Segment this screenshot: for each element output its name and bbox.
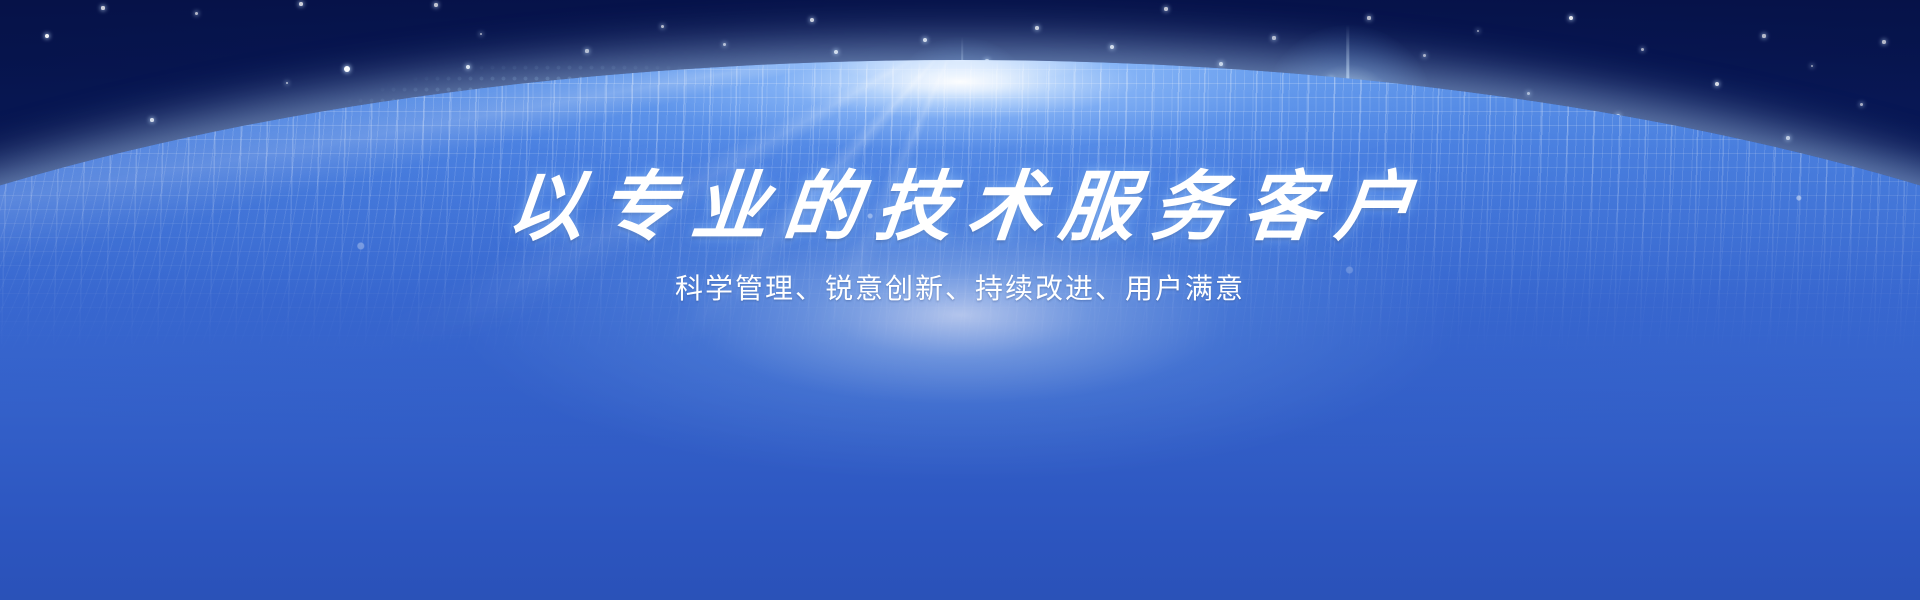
banner-copy: 以专业的技术服务客户 科学管理、锐意创新、持续改进、用户满意	[0, 168, 1920, 305]
earth-globe	[0, 60, 1920, 600]
banner-subheadline: 科学管理、锐意创新、持续改进、用户满意	[0, 272, 1920, 306]
banner-headline: 以专业的技术服务客户	[0, 168, 1920, 246]
hero-banner: 以专业的技术服务客户 科学管理、锐意创新、持续改进、用户满意	[0, 0, 1920, 600]
